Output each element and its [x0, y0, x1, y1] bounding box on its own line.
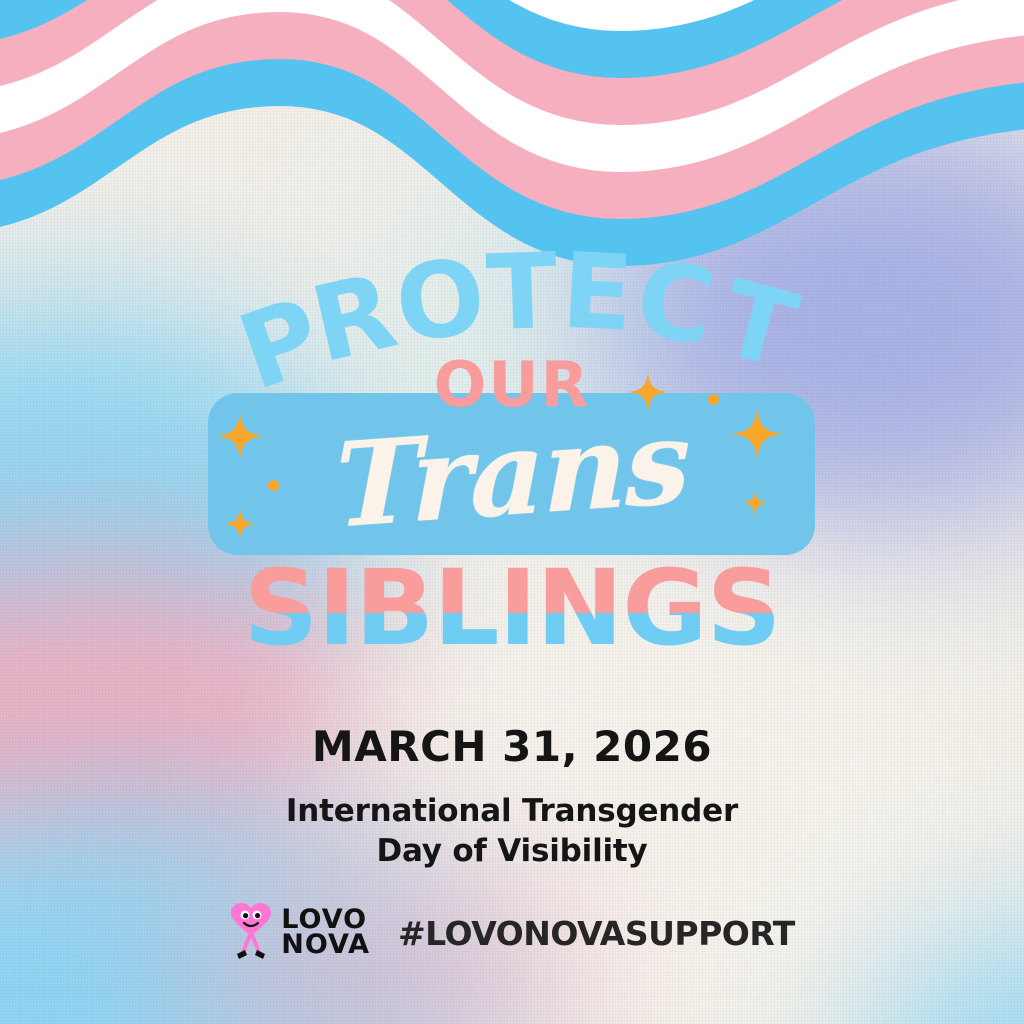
headline-block: P R O T E C T OUR [0, 0, 1024, 700]
protect-letter: C [630, 246, 722, 361]
heart-character-icon [229, 902, 273, 964]
poster-canvas: P R O T E C T OUR [0, 0, 1024, 1024]
event-subtitle: International Transgender Day of Visibil… [0, 792, 1024, 871]
brand-logo: LOVO NOVA [229, 902, 370, 964]
event-date: MARCH 31, 2026 [0, 724, 1024, 770]
footer-block: LOVO NOVA #LOVONOVASUPPORT [0, 902, 1024, 964]
event-info-block: MARCH 31, 2026 International Transgender… [0, 724, 1024, 872]
headline-trans-text: Trans [335, 393, 688, 554]
protect-letter: O [390, 244, 490, 358]
headline-trans-script: Trans [208, 393, 815, 555]
protect-letter: T [485, 239, 560, 345]
brand-wordmark: LOVO NOVA [281, 908, 370, 958]
campaign-hashtag: #LOVONOVASUPPORT [398, 914, 795, 953]
event-subtitle-line1: International Transgender [0, 792, 1024, 832]
event-subtitle-line2: Day of Visibility [0, 832, 1024, 872]
brand-wordmark-line2: NOVA [281, 933, 370, 958]
headline-siblings: SIBLINGS [0, 556, 1024, 660]
headline-protect: P R O T E C T [0, 236, 1024, 366]
protect-letter: E [559, 238, 635, 346]
